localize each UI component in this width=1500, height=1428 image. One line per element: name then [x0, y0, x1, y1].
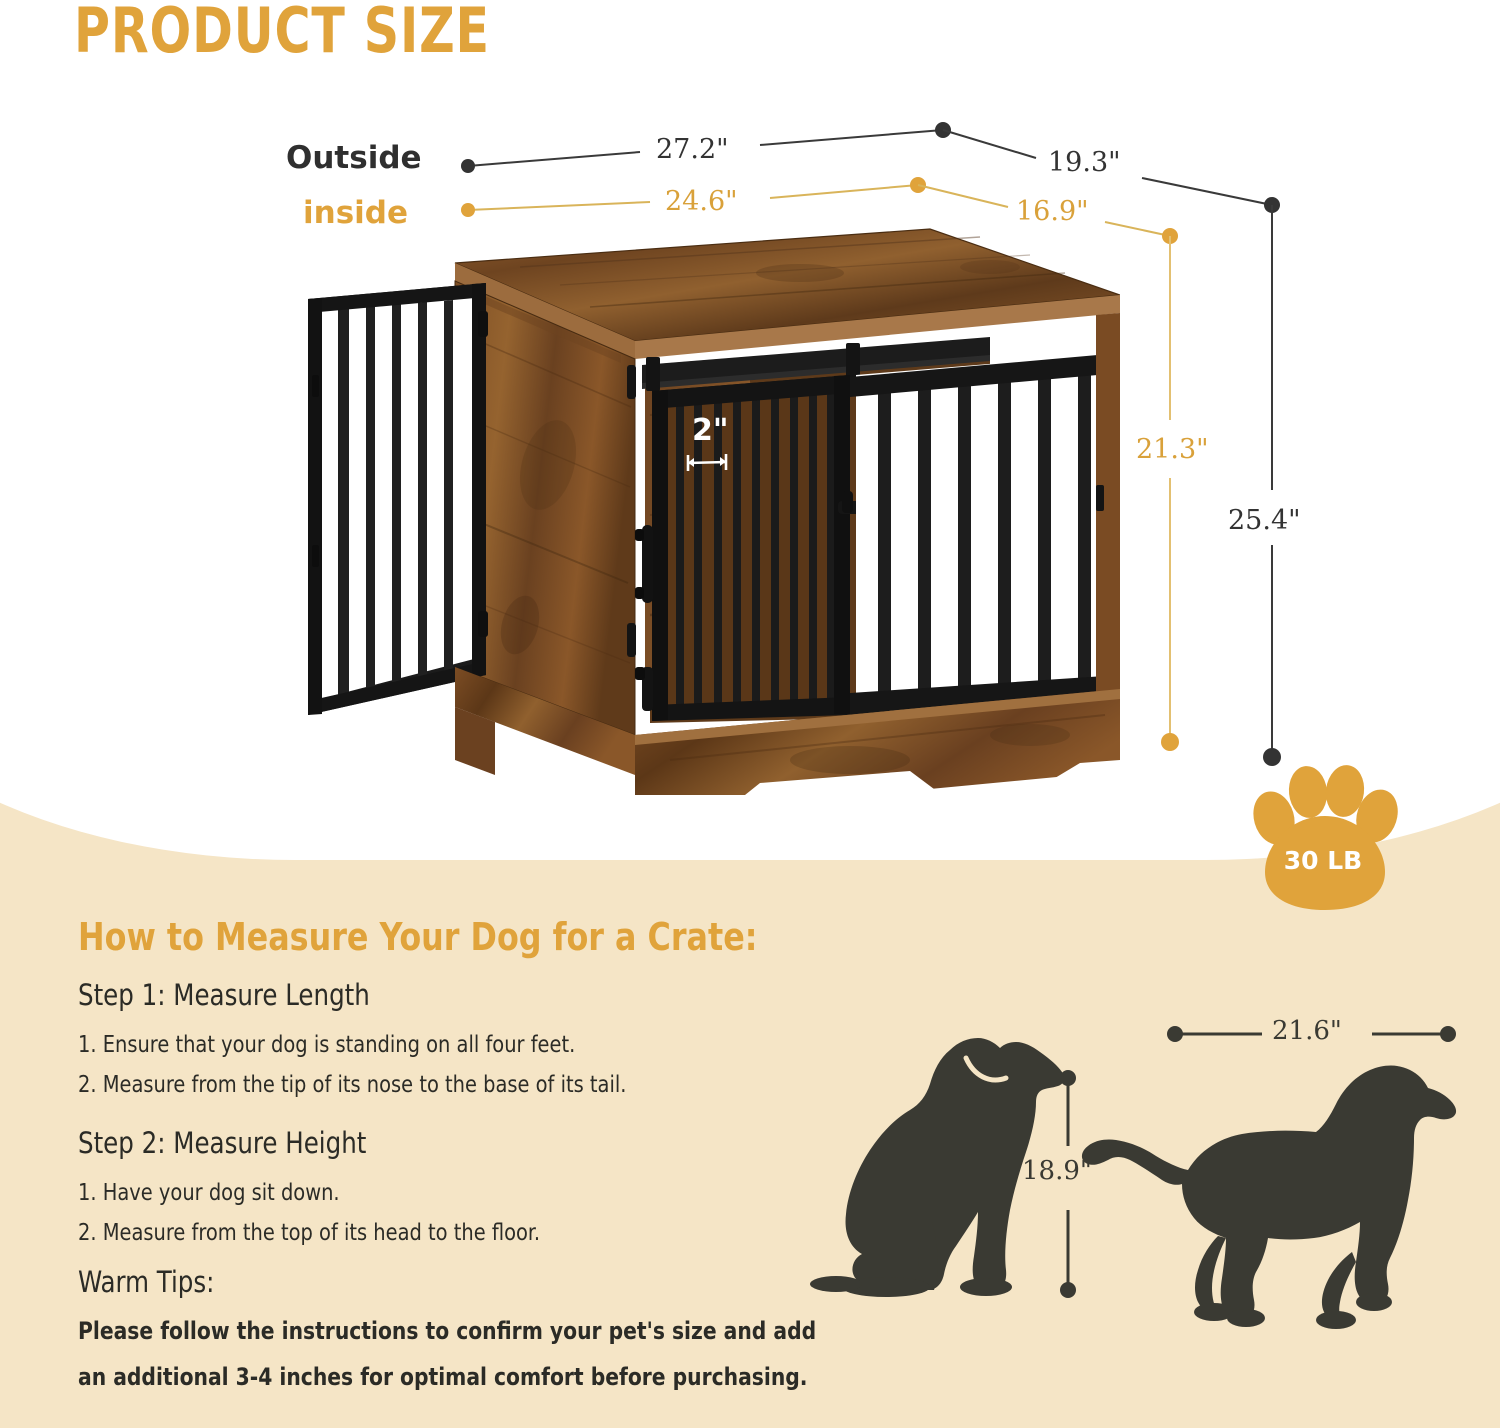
crate-door-handle-left	[635, 525, 653, 603]
step2-item-2: 2. Measure from the top of its head to t…	[78, 1220, 540, 1246]
weight-capacity-label: 30 LB	[1264, 846, 1382, 875]
legend-outside-label: Outside	[286, 140, 422, 176]
product-size-infographic: PRODUCT SIZE Outside inside	[0, 0, 1500, 1428]
dimension-outside-height: 25.4"	[1228, 505, 1301, 536]
step1-item-2: 2. Measure from the tip of its nose to t…	[78, 1072, 626, 1098]
dimension-outside-width: 27.2"	[656, 134, 729, 165]
crate-door-bottom-bolt	[635, 667, 653, 711]
dimension-inside-height: 21.3"	[1136, 434, 1209, 465]
warm-tips-heading: Warm Tips:	[78, 1265, 214, 1299]
warm-tips-line-1: Please follow the instructions to confir…	[78, 1317, 816, 1345]
page-title: PRODUCT SIZE	[74, 0, 490, 67]
svg-text:2": 2"	[692, 413, 729, 448]
step1-item-1: 1. Ensure that your dog is standing on a…	[78, 1032, 575, 1058]
bar-spacing-callout: 2"	[688, 413, 729, 471]
standing-dog-silhouette	[1082, 1066, 1456, 1330]
step1-heading: Step 1: Measure Length	[78, 978, 370, 1012]
paw-weight-badge-icon	[1238, 762, 1408, 914]
warm-tips-line-2: an additional 3-4 inches for optimal com…	[78, 1363, 808, 1391]
sitting-dog-silhouette	[810, 1038, 1064, 1297]
dimension-inside-depth: 16.9"	[1016, 196, 1089, 227]
dog-silhouettes-group	[800, 1000, 1500, 1360]
dimension-outside-depth: 19.3"	[1048, 147, 1121, 178]
crate-open-left-door	[308, 283, 488, 715]
dimension-inside-width: 24.6"	[665, 186, 738, 217]
step2-item-1: 1. Have your dog sit down.	[78, 1180, 340, 1206]
dog-crate-furniture-illustration: 2"	[290, 215, 1120, 795]
legend-inside-label: inside	[303, 195, 408, 231]
step2-heading: Step 2: Measure Height	[78, 1126, 366, 1160]
howto-heading: How to Measure Your Dog for a Crate:	[78, 915, 758, 959]
